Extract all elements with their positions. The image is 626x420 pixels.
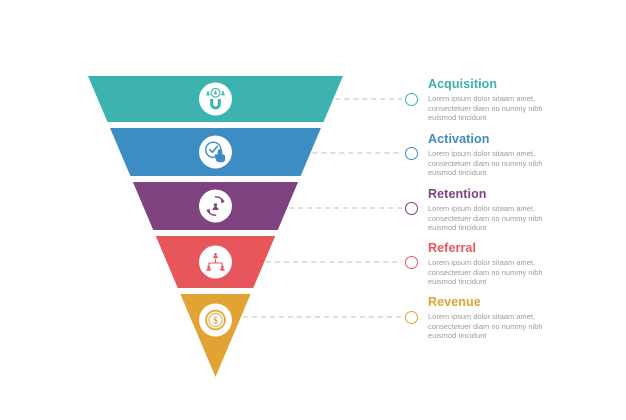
legend-item-activation[interactable]: ActivationLorem ipsum dolor sitaam amet,…	[402, 133, 626, 195]
hand-click-check-icon	[199, 136, 232, 169]
legend-title: Revenue	[428, 296, 618, 309]
legend-item-revenue[interactable]: RevenueLorem ipsum dolor sitaam amet, co…	[402, 296, 626, 358]
stage-marker-ring-icon	[405, 311, 418, 324]
infographic-canvas: $ AcquisitionLorem ipsum dolor sitaam am…	[0, 0, 626, 420]
dollar-coin-icon: $	[199, 304, 232, 337]
stage-marker-ring-icon	[405, 147, 418, 160]
legend-title: Acquisition	[428, 78, 618, 91]
stage-marker-ring-icon	[405, 256, 418, 269]
legend-text-block: RevenueLorem ipsum dolor sitaam amet, co…	[428, 296, 618, 341]
legend-title: Referral	[428, 242, 618, 255]
legend-description: Lorem ipsum dolor sitaam amet, consectet…	[428, 312, 550, 341]
legend-text-block: ReferralLorem ipsum dolor sitaam amet, c…	[428, 242, 618, 287]
svg-text:$: $	[213, 316, 218, 327]
people-network-icon	[199, 246, 232, 279]
legend-description: Lorem ipsum dolor sitaam amet, consectet…	[428, 258, 550, 287]
legend-text-block: RetentionLorem ipsum dolor sitaam amet, …	[428, 188, 618, 233]
user-refresh-loop-icon	[199, 190, 232, 223]
legend-description: Lorem ipsum dolor sitaam amet, consectet…	[428, 149, 550, 178]
legend-description: Lorem ipsum dolor sitaam amet, consectet…	[428, 204, 550, 233]
legend-text-block: ActivationLorem ipsum dolor sitaam amet,…	[428, 133, 618, 178]
legend-title: Retention	[428, 188, 618, 201]
legend-list: AcquisitionLorem ipsum dolor sitaam amet…	[402, 0, 626, 420]
legend-item-acquisition[interactable]: AcquisitionLorem ipsum dolor sitaam amet…	[402, 78, 626, 140]
legend-text-block: AcquisitionLorem ipsum dolor sitaam amet…	[428, 78, 618, 123]
magnet-people-icon	[199, 83, 232, 116]
legend-title: Activation	[428, 133, 618, 146]
stage-marker-ring-icon	[405, 93, 418, 106]
stage-marker-ring-icon	[405, 202, 418, 215]
legend-description: Lorem ipsum dolor sitaam amet, consectet…	[428, 94, 550, 123]
